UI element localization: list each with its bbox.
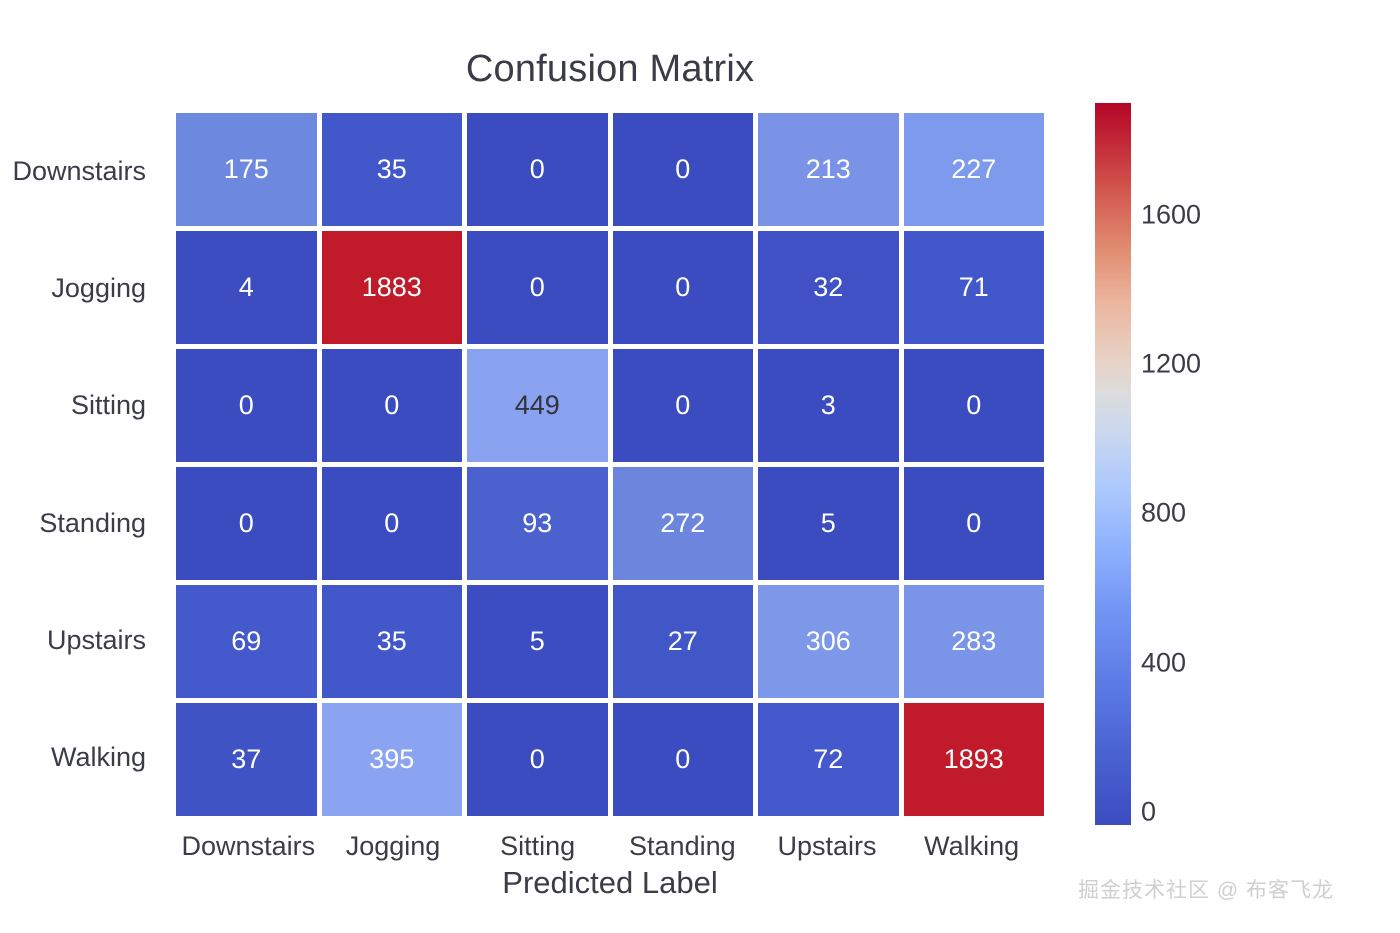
heatmap-cell: 5 bbox=[758, 467, 899, 580]
x-axis-tick-sitting: Sitting bbox=[465, 821, 610, 862]
heatmap-cell: 227 bbox=[904, 113, 1045, 226]
heatmap-cell: 395 bbox=[322, 703, 463, 816]
x-axis-title: Predicted Label bbox=[176, 865, 1044, 901]
y-axis-tick-sitting: Sitting bbox=[0, 347, 168, 464]
heatmap-cell: 32 bbox=[758, 231, 899, 344]
heatmap-cell: 0 bbox=[467, 113, 608, 226]
heatmap-cell: 71 bbox=[904, 231, 1045, 344]
x-axis-tick-walking: Walking bbox=[899, 821, 1044, 862]
heatmap-plot-area: DownstairsJoggingSittingStandingUpstairs… bbox=[176, 113, 1044, 816]
y-axis-tick-standing: Standing bbox=[0, 464, 168, 581]
heatmap-cell: 449 bbox=[467, 349, 608, 462]
y-axis-tick-labels: DownstairsJoggingSittingStandingUpstairs… bbox=[0, 113, 168, 816]
heatmap-cell: 1883 bbox=[322, 231, 463, 344]
heatmap-cell: 3 bbox=[758, 349, 899, 462]
heatmap-cell: 0 bbox=[322, 349, 463, 462]
x-axis-tick-labels: DownstairsJoggingSittingStandingUpstairs… bbox=[176, 821, 1044, 862]
heatmap-cell: 0 bbox=[467, 231, 608, 344]
heatmap-cell: 0 bbox=[613, 231, 754, 344]
colorbar-tick-400: 400 bbox=[1141, 647, 1186, 678]
y-axis-tick-jogging: Jogging bbox=[0, 230, 168, 347]
heatmap-cell: 1893 bbox=[904, 703, 1045, 816]
heatmap-cell: 4 bbox=[176, 231, 317, 344]
heatmap-cell: 5 bbox=[467, 585, 608, 698]
x-axis-tick-downstairs: Downstairs bbox=[176, 821, 321, 862]
heatmap-cell: 0 bbox=[176, 467, 317, 580]
heatmap-cell: 175 bbox=[176, 113, 317, 226]
watermark: 掘金技术社区 @ 布客飞龙 bbox=[1078, 874, 1334, 904]
y-axis-tick-walking: Walking bbox=[0, 699, 168, 816]
x-axis-tick-jogging: Jogging bbox=[321, 821, 466, 862]
heatmap-grid: 1753500213227418830032710044903000932725… bbox=[176, 113, 1044, 816]
x-axis-tick-standing: Standing bbox=[610, 821, 755, 862]
heatmap-cell: 0 bbox=[176, 349, 317, 462]
heatmap-cell: 283 bbox=[904, 585, 1045, 698]
heatmap-cell: 35 bbox=[322, 585, 463, 698]
heatmap-cell: 0 bbox=[613, 703, 754, 816]
heatmap-cell: 0 bbox=[613, 349, 754, 462]
heatmap-cell: 213 bbox=[758, 113, 899, 226]
heatmap-cell: 72 bbox=[758, 703, 899, 816]
heatmap-cell: 93 bbox=[467, 467, 608, 580]
heatmap-cell: 0 bbox=[322, 467, 463, 580]
colorbar-tick-0: 0 bbox=[1141, 796, 1156, 827]
colorbar-tick-labels: 040080012001600 bbox=[1141, 103, 1281, 825]
heatmap-cell: 35 bbox=[322, 113, 463, 226]
heatmap-cell: 37 bbox=[176, 703, 317, 816]
colorbar-gradient bbox=[1095, 103, 1131, 825]
heatmap-cell: 0 bbox=[467, 703, 608, 816]
colorbar-tick-1200: 1200 bbox=[1141, 349, 1201, 380]
colorbar: 040080012001600 bbox=[1095, 103, 1131, 825]
heatmap-cell: 0 bbox=[904, 467, 1045, 580]
heatmap-cell: 27 bbox=[613, 585, 754, 698]
heatmap-cell: 272 bbox=[613, 467, 754, 580]
y-axis-tick-downstairs: Downstairs bbox=[0, 113, 168, 230]
heatmap-cell: 0 bbox=[904, 349, 1045, 462]
heatmap-cell: 69 bbox=[176, 585, 317, 698]
colorbar-tick-800: 800 bbox=[1141, 498, 1186, 529]
heatmap-cell: 0 bbox=[613, 113, 754, 226]
colorbar-tick-1600: 1600 bbox=[1141, 199, 1201, 230]
x-axis-tick-upstairs: Upstairs bbox=[755, 821, 900, 862]
y-axis-tick-upstairs: Upstairs bbox=[0, 582, 168, 699]
heatmap-cell: 306 bbox=[758, 585, 899, 698]
page-title: Confusion Matrix bbox=[0, 48, 1220, 91]
